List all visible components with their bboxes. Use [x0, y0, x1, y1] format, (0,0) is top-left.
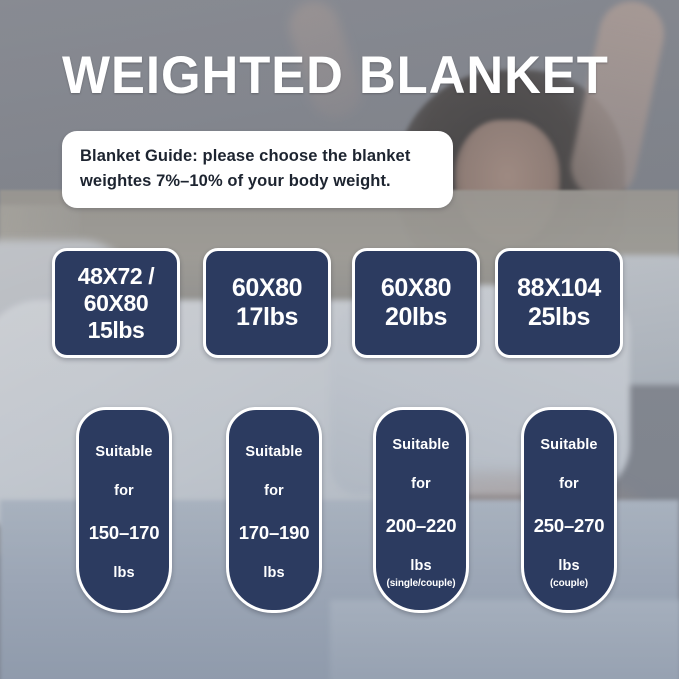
for-label: for [559, 476, 579, 493]
size-line-1: 88X104 [517, 274, 601, 303]
weight-unit: lbs [410, 558, 431, 575]
size-options-row: 48X72 / 60X80 15lbs 60X80 17lbs 60X80 20… [0, 248, 679, 360]
size-weight: 20lbs [385, 303, 447, 332]
usage-note: (couple) [550, 578, 588, 590]
suitable-label: Suitable [392, 437, 449, 454]
size-option-15lbs[interactable]: 48X72 / 60X80 15lbs [52, 248, 180, 358]
for-label: for [411, 476, 431, 493]
weight-range: 170–190 [239, 522, 310, 543]
blanket-guide-text: Blanket Guide: please choose the blanket… [80, 144, 435, 194]
size-option-25lbs[interactable]: 88X104 25lbs [495, 248, 623, 358]
weight-range: 200–220 [386, 515, 457, 536]
size-weight: 25lbs [528, 303, 590, 332]
foreground-content: WEIGHTED BLANKET Blanket Guide: please c… [0, 0, 679, 679]
suitability-card-200-220[interactable]: Suitable for 200–220 lbs (single/couple) [373, 407, 469, 613]
size-weight: 17lbs [236, 303, 298, 332]
blanket-guide-callout: Blanket Guide: please choose the blanket… [62, 131, 453, 208]
suitable-label: Suitable [540, 437, 597, 454]
weight-unit: lbs [558, 558, 579, 575]
size-option-20lbs[interactable]: 60X80 20lbs [352, 248, 480, 358]
size-line-1: 60X80 [232, 274, 302, 303]
suitability-cards-row: Suitable for 150–170 lbs Suitable for 17… [0, 407, 679, 617]
suitable-label: Suitable [95, 444, 152, 461]
weight-unit: lbs [263, 565, 284, 582]
page-title: WEIGHTED BLANKET [62, 48, 609, 104]
size-option-17lbs[interactable]: 60X80 17lbs [203, 248, 331, 358]
weight-range: 250–270 [534, 515, 605, 536]
size-line-2: 60X80 [84, 290, 149, 317]
size-weight: 15lbs [88, 317, 145, 344]
weight-range: 150–170 [89, 522, 160, 543]
size-line-1: 48X72 / [78, 263, 155, 290]
usage-note: (single/couple) [386, 578, 455, 590]
suitable-label: Suitable [245, 444, 302, 461]
for-label: for [114, 483, 134, 500]
suitability-card-250-270[interactable]: Suitable for 250–270 lbs (couple) [521, 407, 617, 613]
suitability-card-150-170[interactable]: Suitable for 150–170 lbs [76, 407, 172, 613]
size-line-1: 60X80 [381, 274, 451, 303]
suitability-card-170-190[interactable]: Suitable for 170–190 lbs [226, 407, 322, 613]
weighted-blanket-infographic: WEIGHTED BLANKET Blanket Guide: please c… [0, 0, 679, 679]
weight-unit: lbs [113, 565, 134, 582]
for-label: for [264, 483, 284, 500]
